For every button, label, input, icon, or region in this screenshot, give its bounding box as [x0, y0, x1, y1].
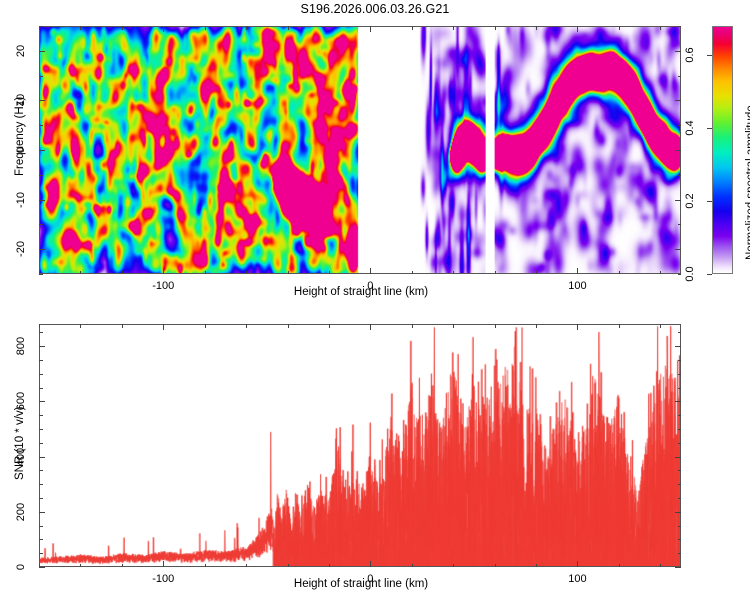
y-tick-right	[675, 567, 681, 568]
snr-plot-area[interactable]	[39, 324, 681, 567]
colorbar[interactable]	[712, 26, 733, 274]
y-tick	[39, 567, 45, 568]
y-tick-label: 200	[15, 500, 27, 524]
colorbar-tick-label: 0.2	[684, 187, 696, 215]
spectrogram-y-axis-label: Frequency (Hz)	[14, 97, 26, 176]
y-tick-label: 0	[15, 555, 27, 579]
spectrogram-plot-area[interactable]	[39, 26, 681, 274]
colorbar-tick	[707, 274, 712, 275]
y-tick-label: 20	[15, 39, 27, 63]
figure-canvas: S196.2026.006.03.26.G21 -1000100-20-1001…	[0, 0, 750, 600]
colorbar-tick-label: 0.4	[684, 114, 696, 142]
snr-trace-line	[40, 325, 680, 566]
snr-x-axis-label: Height of straight line (km)	[0, 578, 722, 590]
y-tick-right	[678, 274, 682, 275]
colorbar-tick-label: 0.0	[684, 260, 696, 288]
y-tick-label: -10	[15, 188, 27, 212]
y-tick	[39, 274, 43, 275]
snr-y-axis-label: SNR (10 * v/v)	[14, 407, 26, 481]
y-tick-label: -20	[15, 237, 27, 261]
colorbar-tick-label: 0.6	[684, 41, 696, 69]
colorbar-label: Normalized spectral amplitude	[745, 105, 750, 260]
y-tick-label: 800	[15, 334, 27, 358]
spectrogram-x-axis-label: Height of straight line (km)	[0, 286, 722, 298]
colorbar-gradient	[713, 27, 732, 273]
figure-title: S196.2026.006.03.26.G21	[0, 2, 750, 16]
spectrogram-image	[40, 27, 680, 273]
